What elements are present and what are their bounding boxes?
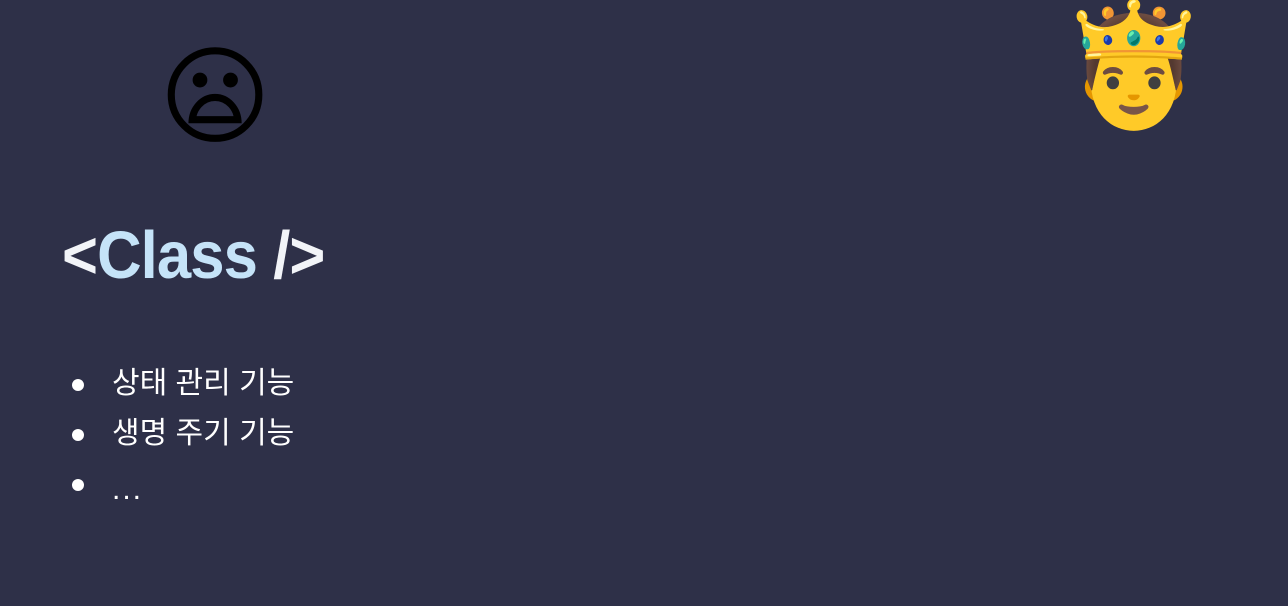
- title-close-bracket: />: [257, 218, 324, 293]
- bullet-dot-icon: [72, 379, 84, 391]
- list-item: 상태 관리 기능: [72, 364, 294, 414]
- bullet-dot-icon: [72, 479, 84, 491]
- prince-with-crown-emoji: 🤴: [844, 6, 1288, 126]
- comparison-slide: 😦 <Class /> 상태 관리 기능 생명 주기 기능 ... 🤴 <Fun…: [0, 0, 1288, 606]
- title-tag-name: Class: [97, 218, 257, 293]
- title-class: <Class />: [62, 222, 324, 289]
- column-functional: 🤴 <Functional /> 상태 관리 기능 생명 주기 기능 + 함수의…: [644, 0, 1288, 606]
- list-item-label: 생명 주기 기능: [112, 414, 294, 454]
- feature-list-class: 상태 관리 기능 생명 주기 기능 ...: [72, 364, 294, 514]
- list-item-label: 상태 관리 기능: [112, 364, 294, 404]
- bullet-dot-icon: [72, 429, 84, 441]
- list-item: ...: [72, 464, 294, 514]
- list-item-label: ...: [112, 470, 143, 510]
- list-item: 생명 주기 기능: [72, 414, 294, 464]
- title-open-bracket: <: [62, 218, 97, 293]
- column-class: 😦 <Class /> 상태 관리 기능 생명 주기 기능 ...: [0, 0, 644, 606]
- frowning-face-with-open-mouth-emoji: 😦: [0, 44, 430, 152]
